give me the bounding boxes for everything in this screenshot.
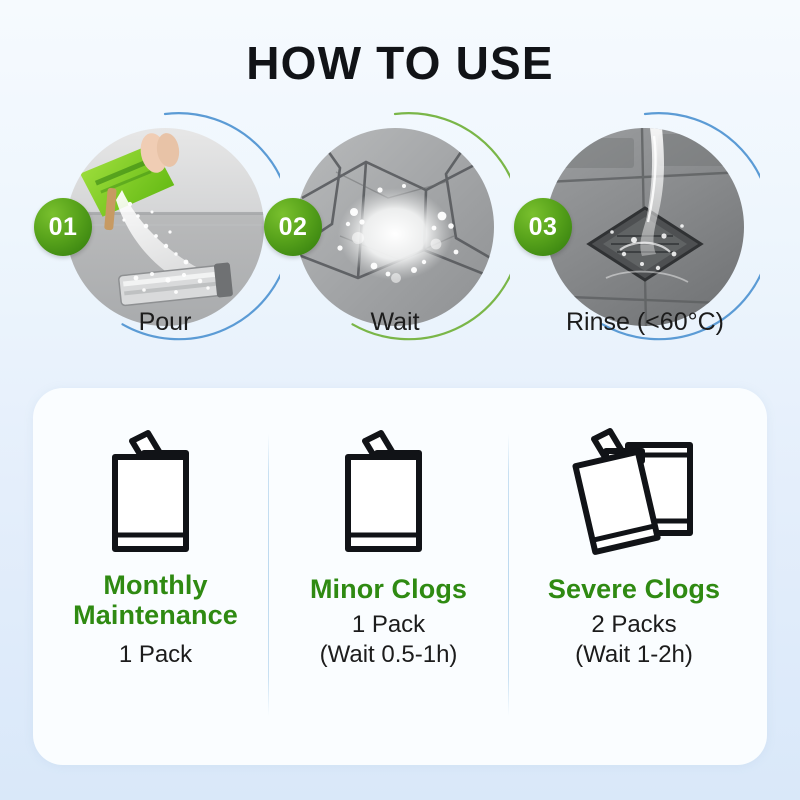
dosage-card: Monthly Maintenance 1 Pack [33, 388, 767, 765]
infographic-page: HOW TO USE [0, 0, 800, 800]
dosage-wait: (Wait 0.5-1h) [269, 640, 508, 669]
dosage-heading-line1: Severe Clogs [509, 574, 759, 604]
single-sachet-icon [43, 416, 268, 566]
dosage-detail: 1 Pack [43, 640, 268, 669]
dosage-wait: (Wait 1-2h) [509, 640, 759, 669]
pouring-granules-onto-floor-photo [66, 128, 264, 326]
dosage-amount: 1 Pack [43, 640, 268, 669]
dosage-heading: Monthly Maintenance [43, 570, 268, 630]
dosage-heading-line2: Maintenance [43, 600, 268, 630]
dosage-heading: Severe Clogs [509, 574, 759, 604]
dosage-heading: Minor Clogs [269, 574, 508, 604]
step-02-label: Wait [270, 308, 520, 337]
dosage-column-monthly-maintenance: Monthly Maintenance 1 Pack [43, 416, 268, 746]
dosage-heading-line1: Minor Clogs [269, 574, 508, 604]
foaming-on-tile-photo [296, 128, 494, 326]
single-sachet-icon [269, 416, 508, 566]
dosage-column-minor-clogs: Minor Clogs 1 Pack (Wait 0.5-1h) [269, 416, 508, 746]
step-01-label: Pour [40, 308, 290, 337]
step-02: 02 Wait [270, 112, 520, 352]
dosage-detail: 2 Packs (Wait 1-2h) [509, 610, 759, 669]
step-02-number-badge: 02 [264, 198, 322, 256]
step-01: 01 Pour [40, 112, 290, 352]
dosage-amount: 1 Pack [269, 610, 508, 639]
double-sachet-icon [509, 416, 759, 566]
step-03: 03 Rinse (<60°C) [520, 112, 770, 352]
dosage-heading-line1: Monthly [43, 570, 268, 600]
step-03-number-badge: 03 [514, 198, 572, 256]
page-title: HOW TO USE [0, 36, 800, 90]
dosage-amount: 2 Packs [509, 610, 759, 639]
step-03-label: Rinse (<60°C) [500, 308, 790, 337]
dosage-detail: 1 Pack (Wait 0.5-1h) [269, 610, 508, 669]
step-01-number-badge: 01 [34, 198, 92, 256]
water-rinsing-floor-drain-photo [546, 128, 744, 326]
how-to-use-steps: 01 Pour [0, 112, 800, 352]
dosage-column-severe-clogs: Severe Clogs 2 Packs (Wait 1-2h) [509, 416, 759, 746]
